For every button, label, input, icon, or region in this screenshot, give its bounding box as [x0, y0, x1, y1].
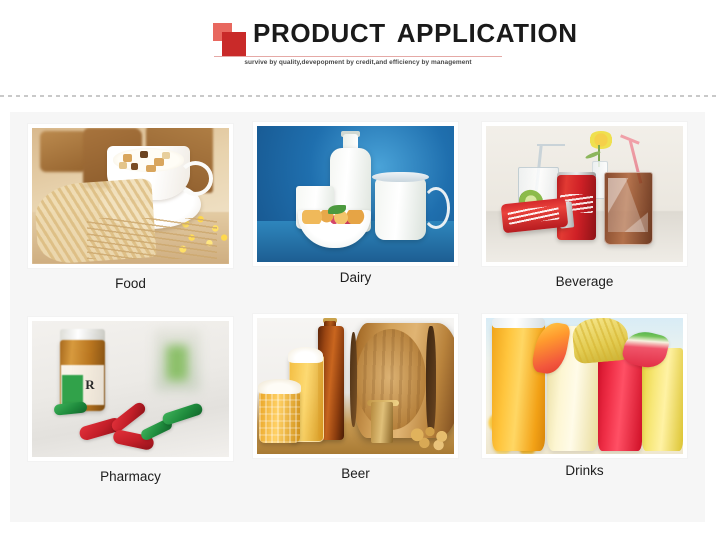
product-application-logo-icon — [213, 23, 253, 59]
beer-photo — [257, 318, 454, 454]
gallery-caption-drinks: Drinks — [482, 463, 687, 478]
dairy-jug-rim — [372, 172, 429, 182]
product-application-gallery: Food Dairy — [10, 112, 705, 522]
beer-thumbnail[interactable] — [253, 314, 458, 458]
beer-barrel-hoop-left — [350, 332, 358, 427]
beer-mug-foam-head — [258, 379, 301, 394]
pharmacy-capsule-green — [161, 402, 204, 426]
food-photo — [32, 128, 229, 264]
gallery-caption-beer: Beer — [253, 466, 458, 481]
beverage-ice-cubes — [608, 178, 647, 232]
food-flake — [119, 162, 127, 169]
food-flake — [131, 163, 139, 170]
food-flake — [162, 152, 170, 159]
pharmacy-capsule-green — [53, 401, 87, 415]
pharmacy-thumbnail[interactable]: R — [28, 317, 233, 461]
food-flake — [140, 151, 148, 158]
beer-mug — [259, 389, 300, 443]
page-header: PRODUCTAPPLICATION survive by quality,de… — [0, 0, 720, 94]
gallery-caption-beverage: Beverage — [482, 274, 687, 289]
pharmacy-background-green-blur — [166, 345, 188, 380]
page-title-word-product: PRODUCT — [253, 18, 386, 48]
food-wheat-stems — [87, 218, 217, 259]
drinks-glass-orange-rim — [492, 318, 545, 328]
gallery-item-beer[interactable]: Beer — [253, 314, 458, 458]
drinks-glass-red — [598, 356, 641, 451]
beverage-thumbnail[interactable] — [482, 122, 687, 266]
dairy-thumbnail[interactable] — [253, 122, 458, 266]
gallery-item-dairy[interactable]: Dairy — [253, 122, 458, 266]
gallery-caption-pharmacy: Pharmacy — [28, 469, 233, 484]
drinks-thumbnail[interactable] — [482, 314, 687, 458]
beverage-photo — [486, 126, 683, 262]
dairy-milk-jug — [375, 178, 426, 241]
dairy-photo — [257, 126, 454, 262]
brand-tagline: survive by quality,devepopment by credit… — [213, 59, 503, 66]
title-underline-rule — [214, 56, 502, 57]
gallery-item-beverage[interactable]: Beverage — [482, 122, 687, 266]
pharmacy-label-letter-r: R — [85, 378, 101, 400]
page-title: PRODUCTAPPLICATION — [253, 18, 578, 49]
gallery-item-drinks[interactable]: Drinks — [482, 314, 687, 458]
content-panel: Food Dairy — [10, 112, 705, 522]
gallery-caption-food: Food — [28, 276, 233, 291]
brand-logo-block: PRODUCTAPPLICATION survive by quality,de… — [213, 18, 503, 70]
food-cup-handle — [178, 161, 214, 196]
food-flake — [123, 154, 133, 162]
beverage-flower — [588, 131, 614, 149]
pharmacy-photo: R — [32, 321, 229, 457]
beer-barrel-tap — [371, 402, 393, 443]
gallery-item-pharmacy[interactable]: R Pharmacy — [28, 317, 233, 461]
pharmacy-label-green-band — [62, 375, 84, 405]
food-sack-left — [40, 131, 87, 172]
gallery-caption-dairy: Dairy — [253, 270, 458, 285]
food-thumbnail[interactable] — [28, 124, 233, 268]
gallery-item-food[interactable]: Food — [28, 124, 233, 268]
dairy-jug-handle — [422, 187, 450, 228]
food-flake — [146, 165, 156, 172]
header-divider — [0, 95, 720, 97]
beer-barley-grains — [407, 424, 454, 451]
logo-square-front-icon — [222, 32, 246, 56]
drinks-pineapple-garnish — [571, 318, 630, 364]
drinks-photo — [486, 318, 683, 454]
beer-glass-foam-head — [288, 347, 323, 363]
beer-barrel-hoop-right — [426, 326, 436, 435]
page-title-word-application: APPLICATION — [397, 18, 578, 48]
